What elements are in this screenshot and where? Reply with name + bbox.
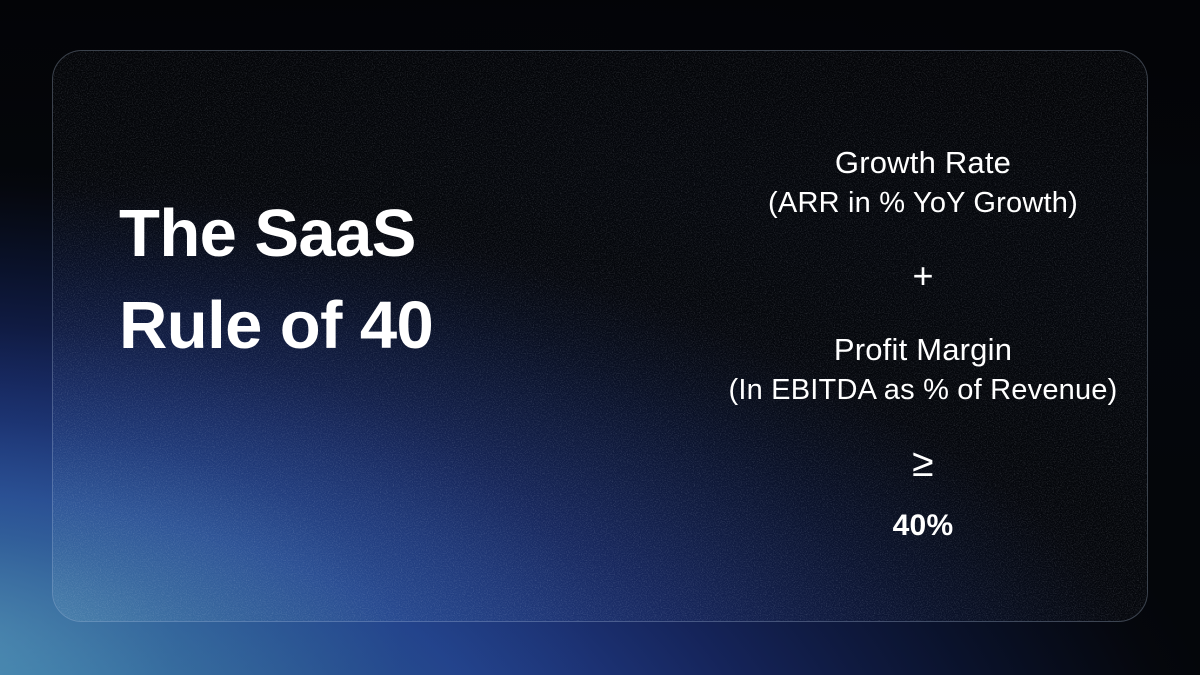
- rule-of-40-formula: Growth Rate (ARR in % YoY Growth) + Prof…: [619, 143, 1148, 544]
- plus-operator-icon: +: [619, 256, 1148, 296]
- profit-margin-definition: (In EBITDA as % of Revenue): [619, 370, 1148, 410]
- content-card: The SaaS Rule of 40 Growth Rate (ARR in …: [52, 50, 1148, 622]
- page-title: The SaaS Rule of 40: [119, 188, 589, 372]
- formula-term-profit-margin: Profit Margin (In EBITDA as % of Revenue…: [619, 330, 1148, 410]
- profit-margin-label: Profit Margin: [619, 330, 1148, 370]
- greater-than-or-equal-operator-icon: ≥: [619, 444, 1148, 484]
- formula-term-growth-rate: Growth Rate (ARR in % YoY Growth): [619, 143, 1148, 223]
- card-content: The SaaS Rule of 40 Growth Rate (ARR in …: [53, 51, 1147, 621]
- growth-rate-label: Growth Rate: [619, 143, 1148, 183]
- formula-result-value: 40%: [619, 508, 1148, 544]
- growth-rate-definition: (ARR in % YoY Growth): [619, 183, 1148, 223]
- slide-canvas: The SaaS Rule of 40 Growth Rate (ARR in …: [0, 0, 1200, 675]
